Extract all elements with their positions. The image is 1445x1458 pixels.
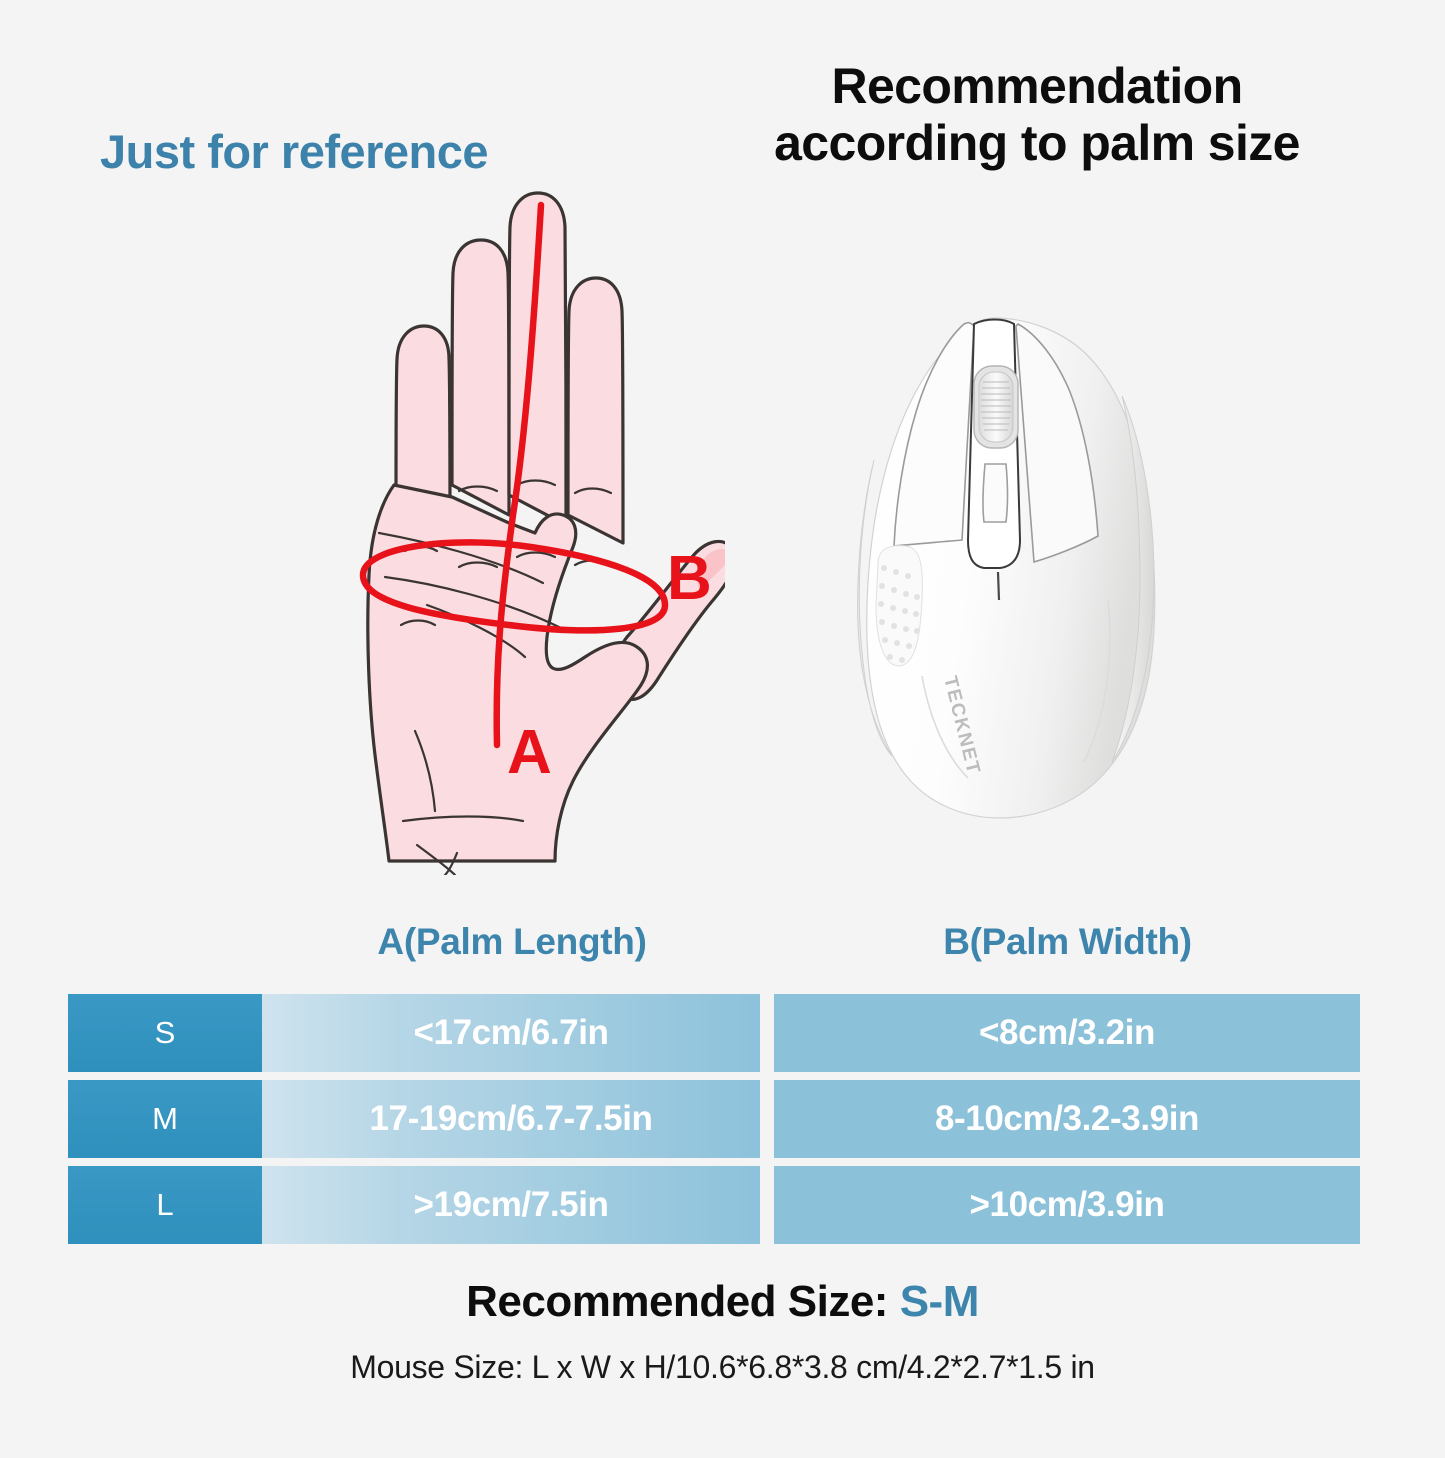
- size-recommendation-table: S <17cm/6.7in <8cm/3.2in M 17-19cm/6.7-7…: [68, 994, 1360, 1244]
- column-gap: [760, 1166, 774, 1244]
- wireless-mouse-photo: TECKNET: [822, 300, 1202, 860]
- column-header-palm-length: A(Palm Length): [262, 921, 762, 963]
- mouse-center-seam: [998, 572, 999, 600]
- recommended-size-value: S-M: [900, 1277, 979, 1326]
- size-label-l: L: [68, 1166, 262, 1244]
- measure-label-a: A: [507, 718, 552, 787]
- column-gap: [760, 994, 774, 1072]
- table-row: L >19cm/7.5in >10cm/3.9in: [68, 1166, 1360, 1244]
- palm-length-value-l: >19cm/7.5in: [262, 1166, 760, 1244]
- palm-width-value-s: <8cm/3.2in: [774, 994, 1360, 1072]
- column-header-palm-width: B(Palm Width): [775, 921, 1360, 963]
- table-row: S <17cm/6.7in <8cm/3.2in: [68, 994, 1360, 1072]
- recommendation-title-line2: according to palm size: [672, 115, 1402, 172]
- recommended-size-label: Recommended Size:: [466, 1277, 888, 1326]
- size-label-m: M: [68, 1080, 262, 1158]
- reference-title: Just for reference: [100, 124, 488, 179]
- recommendation-title: Recommendation according to palm size: [672, 58, 1402, 172]
- column-gap: [760, 1080, 774, 1158]
- palm-width-value-l: >10cm/3.9in: [774, 1166, 1360, 1244]
- table-row: M 17-19cm/6.7-7.5in 8-10cm/3.2-3.9in: [68, 1080, 1360, 1158]
- recommendation-title-line1: Recommendation: [831, 58, 1242, 114]
- mouse-dimensions-text: Mouse Size: L x W x H/10.6*6.8*3.8 cm/4.…: [0, 1349, 1445, 1386]
- size-label-s: S: [68, 994, 262, 1072]
- open-palm-hand-diagram: A B: [255, 185, 725, 875]
- palm-length-value-s: <17cm/6.7in: [262, 994, 760, 1072]
- product-size-guide-page: Just for reference Recommendation accord…: [0, 0, 1445, 1458]
- measure-label-b: B: [667, 544, 712, 613]
- mouse-dpi-button: [983, 464, 1008, 522]
- palm-width-value-m: 8-10cm/3.2-3.9in: [774, 1080, 1360, 1158]
- palm-length-value-m: 17-19cm/6.7-7.5in: [262, 1080, 760, 1158]
- recommended-size-line: Recommended Size: S-M: [0, 1277, 1445, 1327]
